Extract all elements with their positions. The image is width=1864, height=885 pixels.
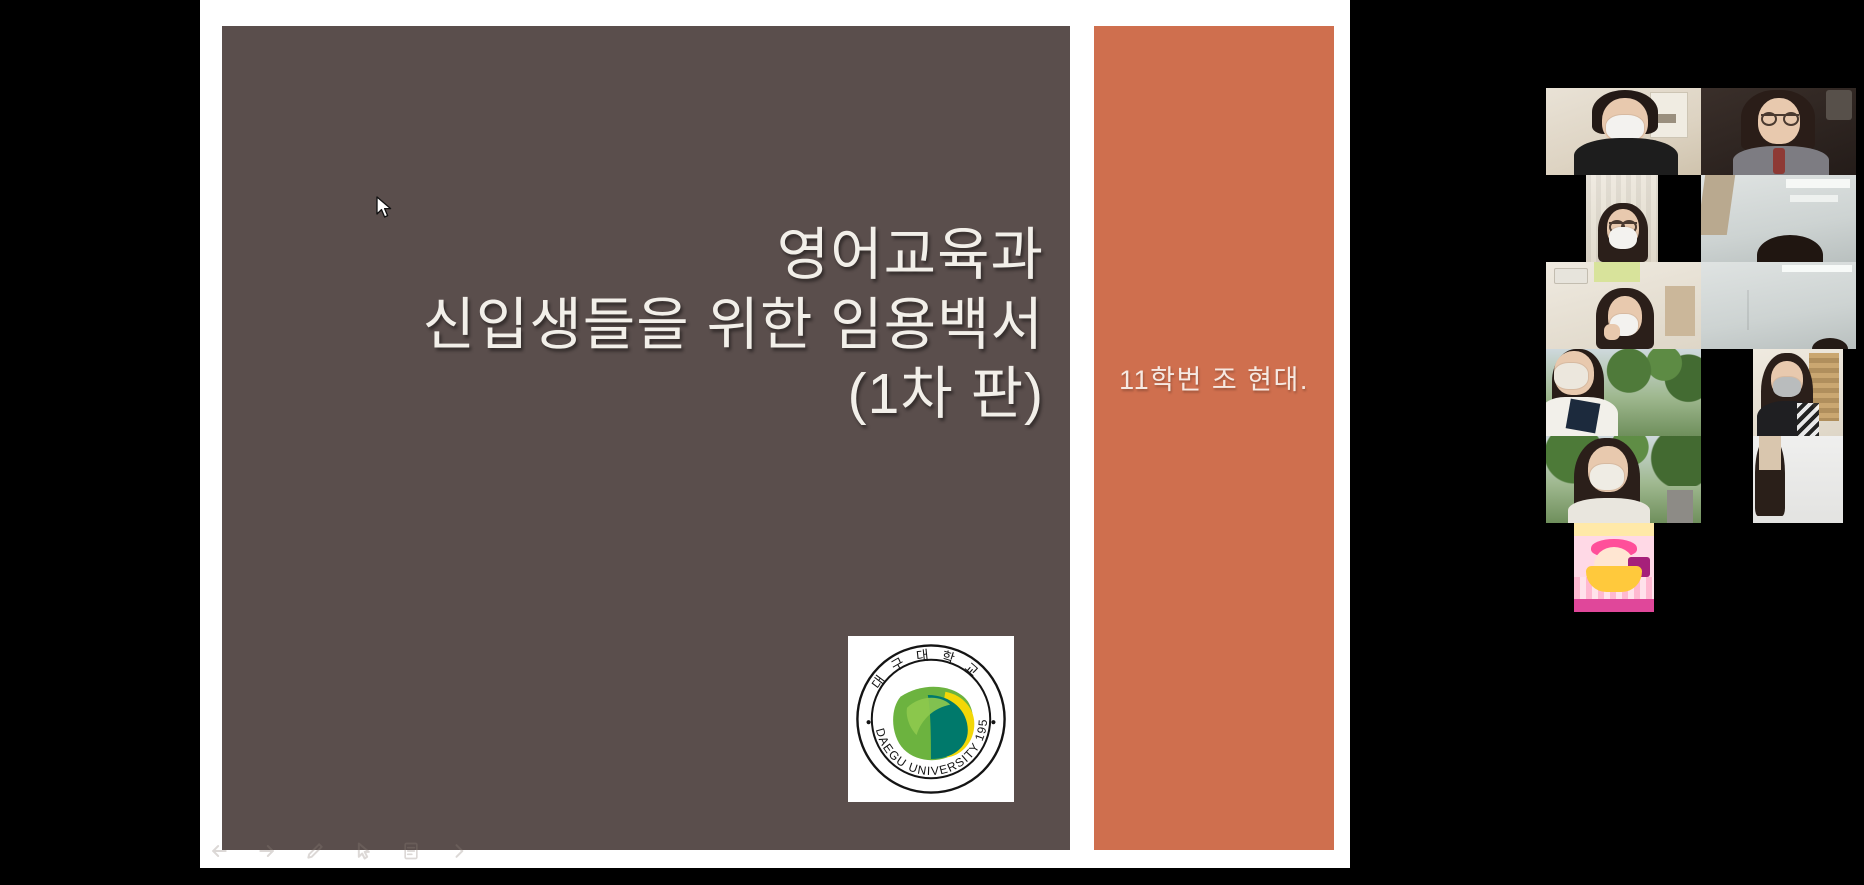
- mouse-cursor: [376, 196, 392, 220]
- daegu-university-logo: 대 구 대 학 교 DAEGU UNIVERSITY 1956: [848, 636, 1014, 802]
- participant-tile-3[interactable]: [1546, 175, 1701, 262]
- pointer-icon[interactable]: [352, 840, 374, 862]
- participant-tile-10[interactable]: [1701, 436, 1856, 523]
- previous-slide-icon[interactable]: [208, 840, 230, 862]
- presentation-toolbar[interactable]: [208, 840, 470, 862]
- notes-icon[interactable]: [400, 840, 422, 862]
- participant-tile-1[interactable]: [1546, 88, 1701, 175]
- participant-tile-7[interactable]: [1546, 349, 1701, 436]
- presenter-label: 11학번 조 현대.: [1094, 358, 1334, 397]
- participant-tile-avatar[interactable]: [1546, 523, 1701, 612]
- participant-tile-5[interactable]: [1546, 262, 1701, 349]
- slide-side-panel: 11학번 조 현대.: [1094, 26, 1334, 850]
- participant-tile-empty: [1701, 523, 1856, 612]
- participant-tile-4[interactable]: [1701, 175, 1856, 262]
- participant-tile-2[interactable]: [1701, 88, 1856, 175]
- video-participant-grid[interactable]: [1546, 88, 1856, 612]
- participant-tile-6[interactable]: [1701, 262, 1856, 349]
- shared-slide-frame: 영어교육과 신입생들을 위한 임용백서 (1차 판): [200, 0, 1350, 868]
- participant-tile-9[interactable]: [1546, 436, 1701, 523]
- participant-tile-8[interactable]: [1701, 349, 1856, 436]
- slide-main-panel: 영어교육과 신입생들을 위한 임용백서 (1차 판): [222, 26, 1070, 850]
- slide-canvas: 영어교육과 신입생들을 위한 임용백서 (1차 판): [222, 26, 1334, 850]
- screen-root: 영어교육과 신입생들을 위한 임용백서 (1차 판): [0, 0, 1864, 885]
- slide-title: 영어교육과 신입생들을 위한 임용백서 (1차 판): [304, 221, 1044, 430]
- pen-icon[interactable]: [304, 840, 326, 862]
- next-slide-icon[interactable]: [256, 840, 278, 862]
- daegu-university-logo-icon: 대 구 대 학 교 DAEGU UNIVERSITY 1956: [851, 639, 1011, 799]
- more-options-icon[interactable]: [448, 840, 470, 862]
